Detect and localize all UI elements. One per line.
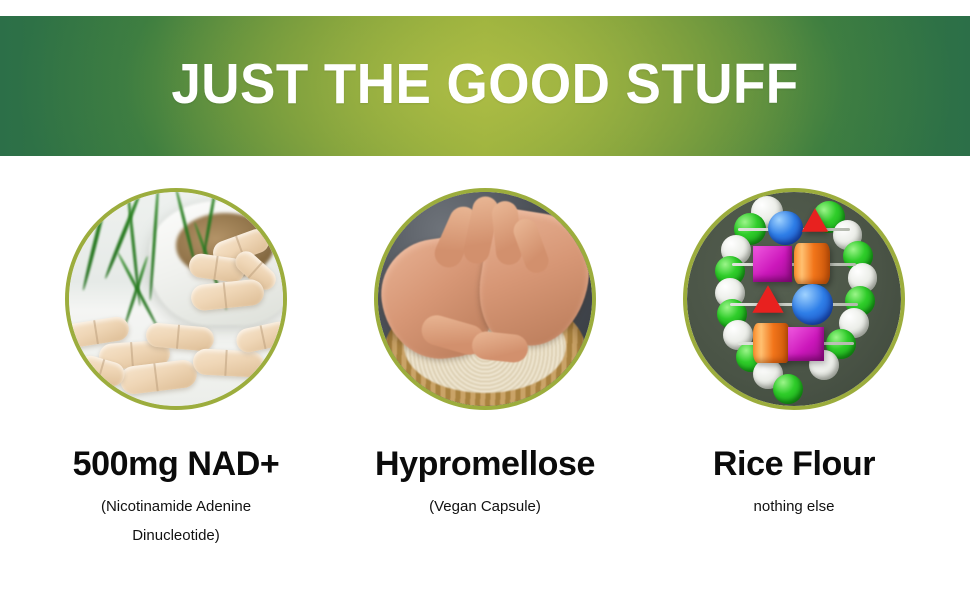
rice-flour-caption: Rice Flour nothing else [629,446,959,521]
rice-in-hands-photo [378,192,592,406]
ingredients-row: 500mg NAD+ (Nicotinamide Adenine Dinucle… [0,188,970,550]
nad-capsules-photo [69,192,283,406]
rice-flour-title: Rice Flour [629,446,959,483]
dna-helix-model [687,192,901,406]
infographic-page: JUST THE GOOD STUFF [0,0,970,600]
nad-capsules-circle [65,188,287,410]
ingredient-card-hypromellose: Hypromellose (Vegan Capsule) [335,188,635,521]
ingredient-card-nad: 500mg NAD+ (Nicotinamide Adenine Dinucle… [26,188,326,550]
nad-title: 500mg NAD+ [11,446,341,483]
header-banner: JUST THE GOOD STUFF [0,0,970,168]
hypromellose-subtitle: (Vegan Capsule) [380,492,590,521]
hypromellose-title: Hypromellose [320,446,650,483]
rice-hands-circle [374,188,596,410]
ingredient-card-rice-flour: Rice Flour nothing else [644,188,944,521]
nad-subtitle: (Nicotinamide Adenine Dinucleotide) [71,492,281,551]
nad-caption: 500mg NAD+ (Nicotinamide Adenine Dinucle… [11,446,341,550]
banner-title: JUST THE GOOD STUFF [34,0,936,168]
hypromellose-caption: Hypromellose (Vegan Capsule) [320,446,650,521]
rice-flour-subtitle: nothing else [689,492,899,521]
dna-helix-circle [683,188,905,410]
